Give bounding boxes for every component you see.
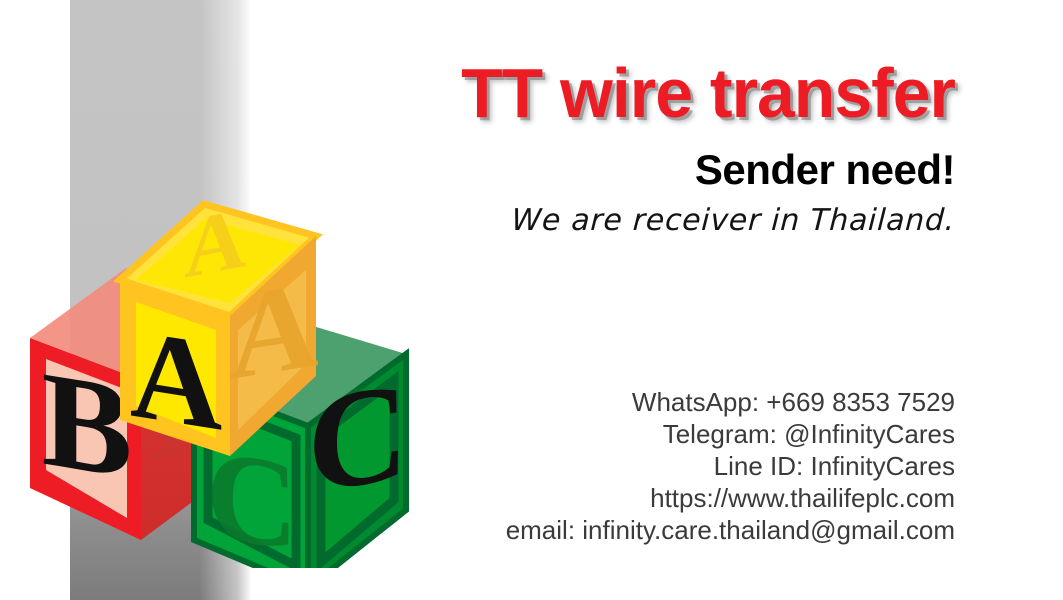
contact-line-id[interactable]: Line ID: InfinityCares (300, 450, 955, 482)
contact-telegram[interactable]: Telegram: @InfinityCares (300, 418, 955, 450)
contact-website[interactable]: https://www.thailifeplc.com (300, 482, 955, 514)
poster-canvas: B B C (0, 0, 1063, 600)
page-title: TT wire transfer (184, 58, 955, 128)
svg-text:B: B (42, 342, 133, 507)
tagline: We are receiver in Thailand. (299, 202, 956, 240)
contact-email[interactable]: email: infinity.care.thailand@gmail.com (300, 514, 955, 546)
contact-details: WhatsApp: +669 8353 7529 Telegram: @Infi… (300, 386, 955, 546)
contact-whatsapp[interactable]: WhatsApp: +669 8353 7529 (300, 386, 955, 418)
svg-text:A: A (229, 254, 319, 405)
svg-text:A: A (130, 301, 222, 458)
subtitle: Sender need! (300, 147, 955, 192)
